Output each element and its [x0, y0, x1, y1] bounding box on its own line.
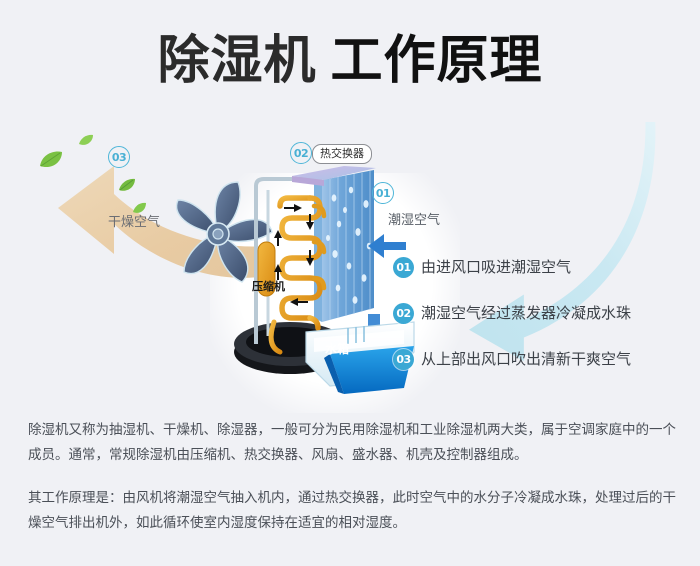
diagram-badge-01: 01	[372, 182, 394, 204]
leaf-icon	[118, 178, 136, 193]
description-paragraph-2: 其工作原理是：由风机将潮湿空气抽入机内，通过热交换器，此时空气中的水分子冷凝成水…	[28, 486, 676, 536]
step-text-03: 从上部出风口吹出清新干爽空气	[421, 349, 631, 369]
step-badge-02: 02	[393, 303, 414, 324]
compressor-label: 压缩机	[252, 279, 285, 294]
step-text-02: 潮湿空气经过蒸发器冷凝成水珠	[421, 303, 631, 323]
step-badge-03: 03	[393, 349, 414, 370]
diagram-badge-03: 03	[108, 146, 130, 168]
water-tank-label: 水箱	[325, 342, 349, 357]
humid-air-label: 潮湿空气	[388, 213, 440, 228]
page-title: 除湿机工作原理	[0, 30, 700, 92]
step-item-03: 03 从上部出风口吹出清新干爽空气	[393, 347, 693, 371]
description-block: 除湿机又称为抽湿机、干燥机、除湿器，一般可分为民用除湿机和工业除湿机两大类，属于…	[28, 418, 676, 536]
step-item-02: 02 潮湿空气经过蒸发器冷凝成水珠	[393, 301, 693, 325]
steps-list: 01 由进风口吸进潮湿空气 02 潮湿空气经过蒸发器冷凝成水珠 03 从上部出风…	[393, 255, 693, 393]
heat-exchanger-callout: 热交换器	[312, 144, 372, 164]
step-item-01: 01 由进风口吸进潮湿空气	[393, 255, 693, 279]
heat-exchanger-callout-label: 热交换器	[320, 147, 364, 160]
title-part-one: 除湿机	[157, 32, 316, 90]
leaf-icon	[132, 202, 147, 215]
diagram-badge-02: 02	[290, 142, 312, 164]
step-text-01: 由进风口吸进潮湿空气	[421, 257, 571, 277]
leaf-icon	[38, 150, 64, 170]
step-badge-01: 01	[393, 257, 414, 278]
title-part-two: 工作原理	[331, 32, 543, 90]
page-root: 除湿机工作原理	[0, 0, 700, 566]
leaf-icon	[78, 134, 94, 147]
dry-air-label: 干燥空气	[108, 215, 160, 230]
description-paragraph-1: 除湿机又称为抽湿机、干燥机、除湿器，一般可分为民用除湿机和工业除湿机两大类，属于…	[28, 418, 676, 468]
